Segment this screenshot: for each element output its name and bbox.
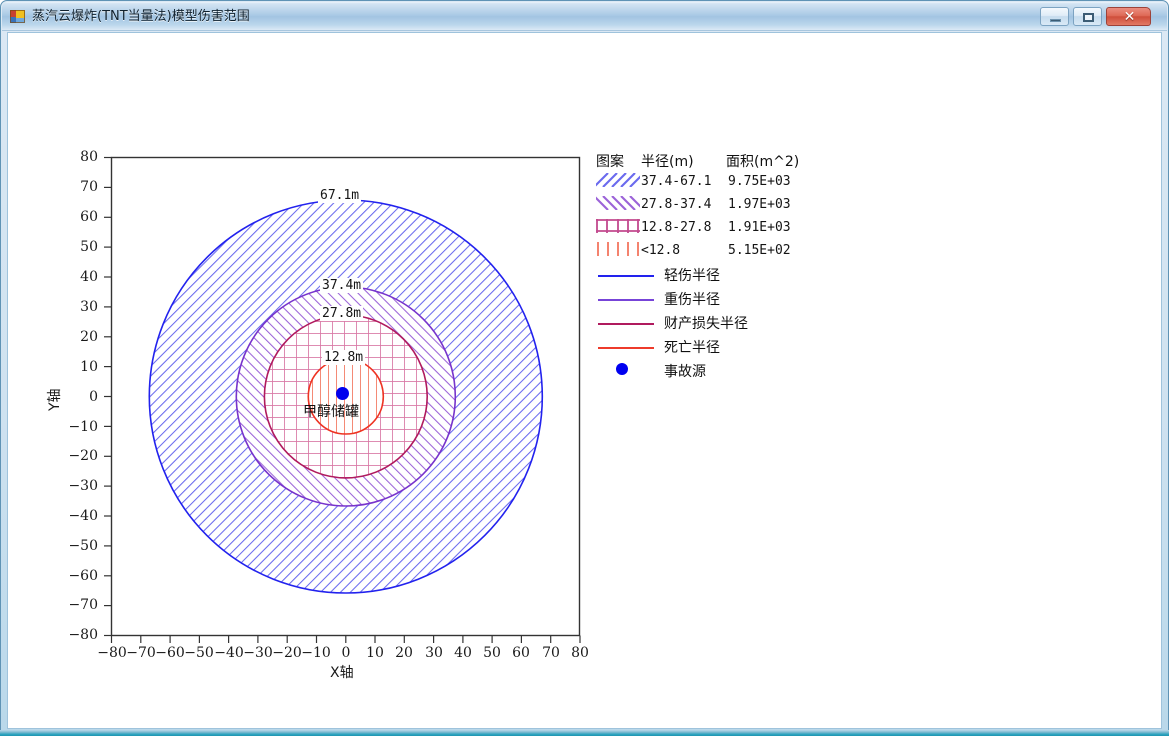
ring-label-property-loss: 27.8m bbox=[320, 306, 363, 321]
y-tick-label: −60 bbox=[48, 568, 98, 584]
y-tick-label: 70 bbox=[54, 179, 98, 195]
x-axis-title: X轴 bbox=[330, 662, 354, 682]
window-bottom-edge bbox=[0, 730, 1169, 736]
ring-label-severe-injury: 37.4m bbox=[320, 278, 363, 293]
y-tick-label: −80 bbox=[48, 627, 98, 643]
y-tick-marks bbox=[104, 158, 112, 636]
x-tick-label: 30 bbox=[418, 645, 450, 661]
legend-line-death bbox=[598, 347, 654, 349]
legend-header-pattern: 图案 bbox=[596, 151, 624, 171]
window-titlebar[interactable]: 蒸汽云爆炸(TNT当量法)模型伤害范围 ✕ bbox=[2, 2, 1167, 31]
minimize-icon bbox=[1050, 19, 1061, 22]
maximize-button[interactable] bbox=[1073, 7, 1102, 26]
x-tick-label: 50 bbox=[476, 645, 508, 661]
legend-swatch-death bbox=[596, 242, 640, 256]
legend-label-minor-injury: 轻伤半径 bbox=[664, 265, 720, 285]
client-area: 80 70 60 50 40 30 20 10 0 −10 −20 −30 −4… bbox=[7, 32, 1162, 729]
application-window: 蒸汽云爆炸(TNT当量法)模型伤害范围 ✕ bbox=[0, 0, 1169, 736]
damage-range-figure: 80 70 60 50 40 30 20 10 0 −10 −20 −30 −4… bbox=[8, 33, 1162, 728]
accident-source-label: 甲醇储罐 bbox=[303, 401, 359, 421]
legend-line-severe-injury bbox=[598, 299, 654, 301]
y-tick-label: −40 bbox=[48, 508, 98, 524]
y-tick-label: 50 bbox=[54, 239, 98, 255]
y-tick-label: −10 bbox=[48, 419, 98, 435]
window-title: 蒸汽云爆炸(TNT当量法)模型伤害范围 bbox=[32, 7, 250, 26]
x-tick-label: 20 bbox=[388, 645, 420, 661]
minimize-button[interactable] bbox=[1040, 7, 1069, 26]
legend-area-value: 9.75E+03 bbox=[728, 174, 791, 189]
windows-form-icon bbox=[10, 9, 26, 25]
legend-line-minor-injury bbox=[598, 275, 654, 277]
plot-canvas bbox=[8, 33, 1162, 728]
legend-line-property-loss bbox=[598, 323, 654, 325]
legend-area-value: 5.15E+02 bbox=[728, 243, 791, 258]
y-tick-label: 40 bbox=[54, 269, 98, 285]
y-tick-label: 60 bbox=[54, 209, 98, 225]
y-tick-label: 10 bbox=[54, 359, 98, 375]
legend-label-death: 死亡半径 bbox=[664, 337, 720, 357]
close-icon: ✕ bbox=[1107, 8, 1152, 25]
x-tick-label: 0 bbox=[330, 645, 362, 661]
x-tick-marks bbox=[112, 636, 581, 644]
legend-swatch-property-loss bbox=[596, 219, 640, 233]
x-tick-label: 60 bbox=[505, 645, 537, 661]
x-tick-label: 10 bbox=[359, 645, 391, 661]
legend-radius-value: 37.4-67.1 bbox=[641, 174, 711, 189]
legend-swatch-minor-injury bbox=[596, 173, 640, 187]
y-tick-label: 80 bbox=[54, 149, 98, 165]
legend-label-accident-source: 事故源 bbox=[664, 361, 706, 381]
legend-header-area: 面积(m^2) bbox=[726, 151, 799, 171]
y-tick-label: −20 bbox=[48, 448, 98, 464]
x-tick-label: 70 bbox=[535, 645, 567, 661]
close-button[interactable]: ✕ bbox=[1106, 7, 1151, 26]
x-tick-label: 80 bbox=[564, 645, 596, 661]
y-tick-label: −30 bbox=[48, 478, 98, 494]
legend-swatch-severe-injury bbox=[596, 196, 640, 210]
maximize-icon bbox=[1083, 13, 1094, 22]
ring-label-minor-injury: 67.1m bbox=[318, 188, 361, 203]
legend-marker-accident-source bbox=[616, 363, 628, 375]
legend-radius-value: <12.8 bbox=[641, 243, 680, 258]
legend-header-radius: 半径(m) bbox=[641, 151, 694, 171]
y-tick-label: 30 bbox=[54, 299, 98, 315]
legend-label-property-loss: 财产损失半径 bbox=[664, 313, 748, 333]
accident-source-marker bbox=[336, 387, 349, 400]
ring-label-death: 12.8m bbox=[322, 350, 365, 365]
y-tick-label: 20 bbox=[54, 329, 98, 345]
legend-area-value: 1.97E+03 bbox=[728, 197, 791, 212]
legend-radius-value: 27.8-37.4 bbox=[641, 197, 711, 212]
legend-label-severe-injury: 重伤半径 bbox=[664, 289, 720, 309]
y-axis-title: Y轴 bbox=[44, 388, 64, 411]
y-tick-label: −50 bbox=[48, 538, 98, 554]
x-tick-label: 40 bbox=[447, 645, 479, 661]
legend-radius-value: 12.8-27.8 bbox=[641, 220, 711, 235]
legend-area-value: 1.91E+03 bbox=[728, 220, 791, 235]
y-tick-label: −70 bbox=[48, 597, 98, 613]
